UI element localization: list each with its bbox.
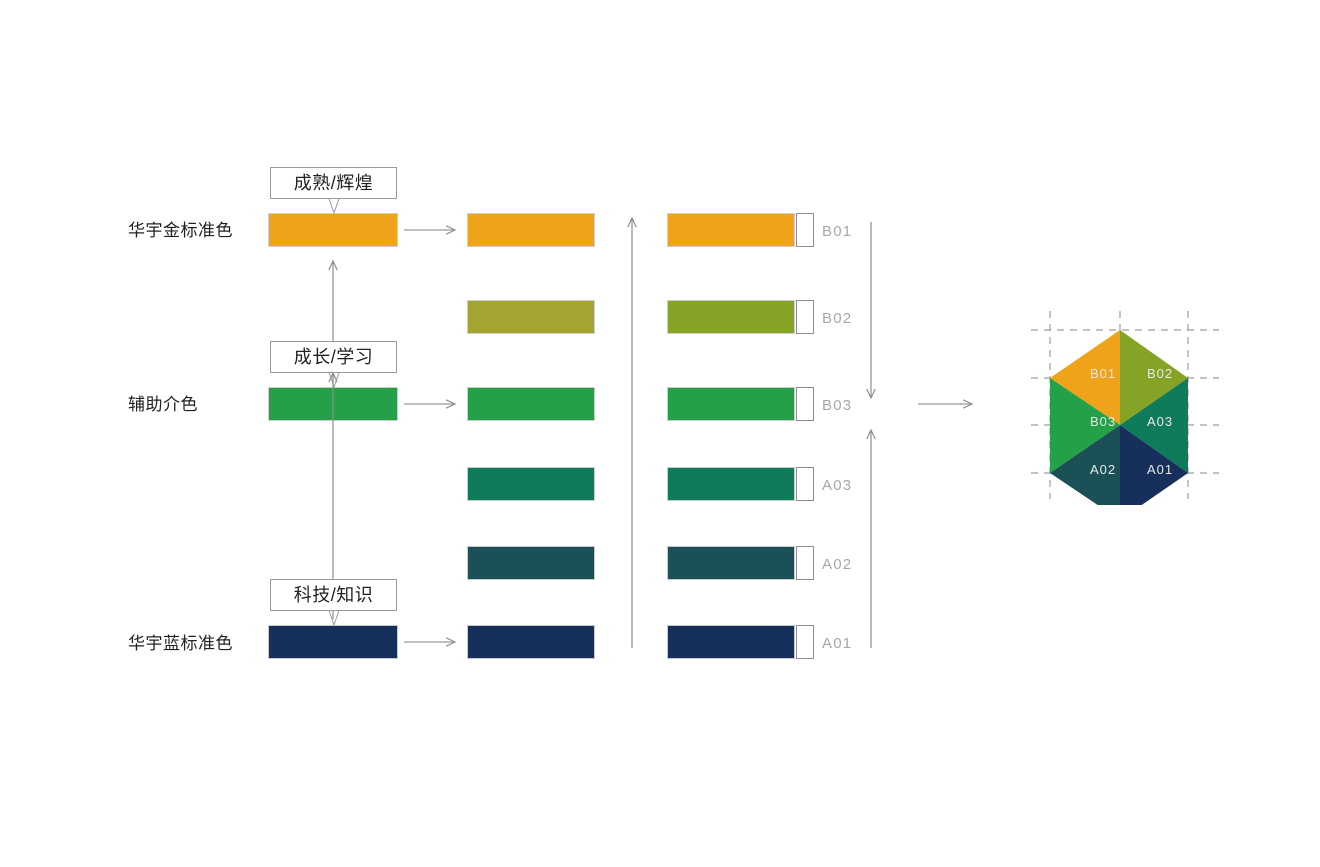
callout-mature: 成熟/辉煌	[270, 167, 397, 199]
swatch-mid-b01	[467, 213, 595, 247]
swatch-left-green	[268, 387, 398, 421]
swatch-mid-a02	[467, 546, 595, 580]
diagram-canvas: 华宇金标准色 辅助介色 华宇蓝标准色 成熟/辉煌 成长/学习 科技/知识 B01…	[0, 0, 1320, 867]
hexagon-svg	[1025, 305, 1225, 505]
code-label-a01: A01	[822, 636, 852, 651]
row-label-blue: 华宇蓝标准色	[128, 635, 233, 652]
swatch-right-b01	[667, 213, 795, 247]
code-label-b01: B01	[822, 224, 852, 239]
row-label-auxiliary: 辅助介色	[128, 396, 198, 413]
code-label-a02: A02	[822, 557, 852, 572]
callout-technology: 科技/知识	[270, 579, 397, 611]
row-label-gold: 华宇金标准色	[128, 222, 233, 239]
swatch-mid-a01	[467, 625, 595, 659]
swatch-right-b02	[667, 300, 795, 334]
code-label-b02: B02	[822, 311, 852, 326]
codebox-a01	[796, 625, 814, 659]
swatch-right-b03	[667, 387, 795, 421]
hexagon-logo-block: B01 B02 B03 A03 A02 A01	[1025, 305, 1225, 505]
swatch-mid-b03	[467, 387, 595, 421]
swatch-mid-b02	[467, 300, 595, 334]
code-label-b03: B03	[822, 398, 852, 413]
code-label-a03: A03	[822, 478, 852, 493]
swatch-right-a02	[667, 546, 795, 580]
callout-growth: 成长/学习	[270, 341, 397, 373]
swatch-right-a01	[667, 625, 795, 659]
swatch-right-a03	[667, 467, 795, 501]
codebox-b02	[796, 300, 814, 334]
codebox-b03	[796, 387, 814, 421]
swatch-left-navy	[268, 625, 398, 659]
swatch-mid-a03	[467, 467, 595, 501]
codebox-a02	[796, 546, 814, 580]
codebox-b01	[796, 213, 814, 247]
codebox-a03	[796, 467, 814, 501]
swatch-left-gold	[268, 213, 398, 247]
